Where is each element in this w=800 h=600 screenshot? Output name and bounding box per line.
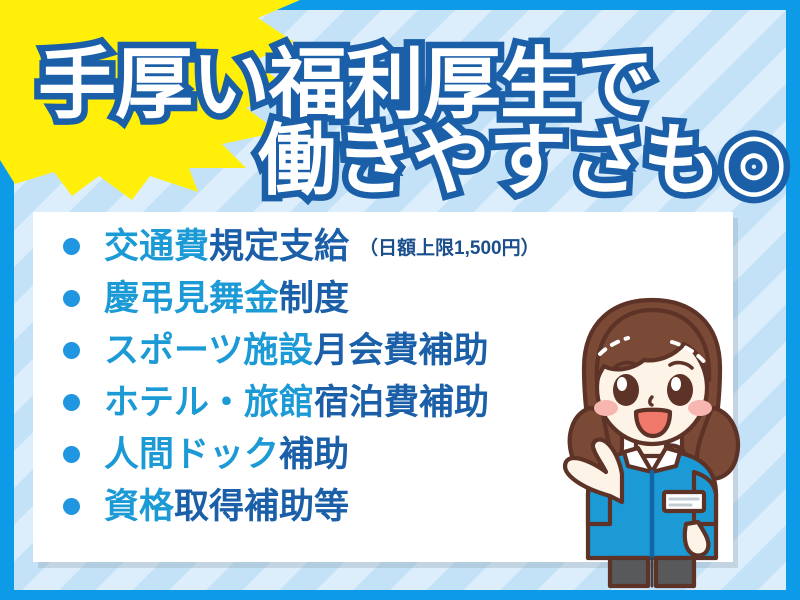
benefit-label-light: スポーツ施設 (104, 333, 313, 368)
benefit-label-light: ホテル・旅館 (104, 385, 314, 420)
benefit-label-light: 人間ドック (104, 437, 279, 472)
bullet-dot-icon (63, 238, 80, 255)
bullet-dot-icon (63, 290, 80, 307)
benefit-label-dark: 宿泊費補助 (314, 385, 489, 420)
list-item: 交通費 規定支給 （日額上限1,500円） (33, 220, 733, 272)
bullet-dot-icon (63, 394, 80, 411)
benefits-poster: 手厚い福利厚生で 働きやすさも◎ 交通費 規定支給 （日額上限1,500円） 慶… (0, 0, 800, 600)
benefit-label-dark: 規定支給 (209, 229, 349, 264)
headline-block: 手厚い福利厚生で 働きやすさも◎ (0, 0, 800, 205)
female-staff-illustration (548, 296, 763, 586)
benefit-label-dark: 補助 (279, 437, 349, 472)
benefit-label-dark: 月会費補助 (313, 333, 488, 368)
benefit-label-dark: 取得補助等 (174, 489, 349, 524)
bullet-dot-icon (63, 342, 80, 359)
benefit-label-light: 資格 (104, 489, 174, 524)
benefit-label-light: 慶弔見舞金 (104, 281, 279, 316)
benefit-label-dark: 制度 (279, 281, 349, 316)
benefit-label-light: 交通費 (104, 229, 209, 264)
bullet-dot-icon (63, 446, 80, 463)
bullet-dot-icon (63, 498, 80, 515)
benefit-note: （日額上限1,500円） (359, 233, 540, 260)
headline-line-2: 働きやすさも◎ (258, 98, 787, 210)
